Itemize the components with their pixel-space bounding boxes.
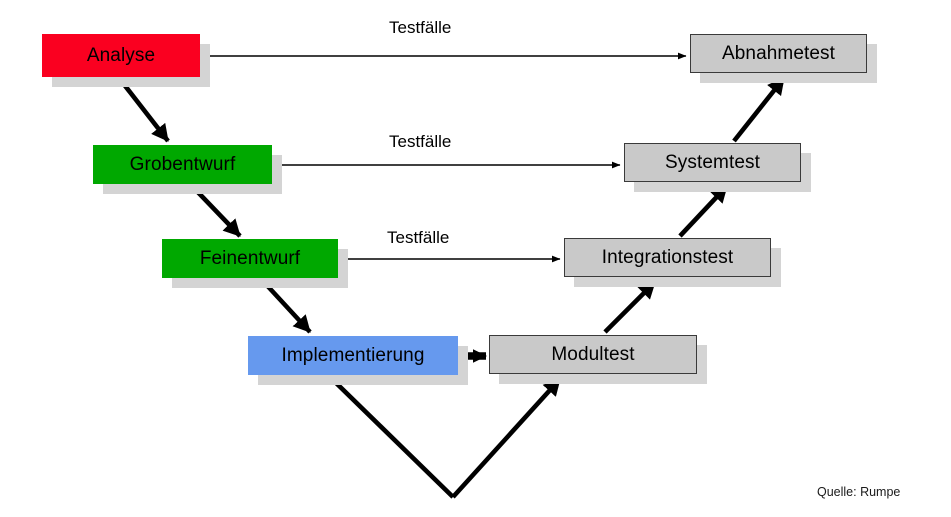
source-attribution: Quelle: Rumpe [817,485,900,499]
node-feinentwurf[interactable]: Feinentwurf [162,239,338,278]
edge-label-testfaelle-3: Testfälle [387,228,449,248]
edge-implementierung-to-vertex [330,377,453,497]
node-grobentwurf-label: Grobentwurf [130,155,236,174]
node-systemtest-label: Systemtest [665,153,760,172]
node-systemtest[interactable]: Systemtest [624,143,801,182]
node-analyse[interactable]: Analyse [42,34,200,77]
edge-label-testfaelle-1: Testfälle [389,18,451,38]
v-model-diagram: Analyse Grobentwurf Feinentwurf Implemen… [0,0,951,517]
node-implementierung[interactable]: Implementierung [248,336,458,375]
edge-vertex-to-modultest [453,379,560,497]
node-abnahmetest[interactable]: Abnahmetest [690,34,867,73]
node-integrationstest[interactable]: Integrationstest [564,238,771,277]
node-integrationstest-label: Integrationstest [602,248,734,267]
node-modultest[interactable]: Modultest [489,335,697,374]
node-analyse-label: Analyse [87,46,155,65]
edge-analyse-to-grobentwurf [119,78,168,141]
edge-integrationstest-to-systemtest [680,186,727,236]
node-abnahmetest-label: Abnahmetest [722,44,835,63]
edge-modultest-to-integrationstest [605,282,655,332]
edge-label-testfaelle-2: Testfälle [389,132,451,152]
node-grobentwurf[interactable]: Grobentwurf [93,145,272,184]
node-modultest-label: Modultest [551,345,634,364]
node-feinentwurf-label: Feinentwurf [200,249,300,268]
edge-systemtest-to-abnahmetest [734,78,784,141]
node-implementierung-label: Implementierung [281,346,424,365]
